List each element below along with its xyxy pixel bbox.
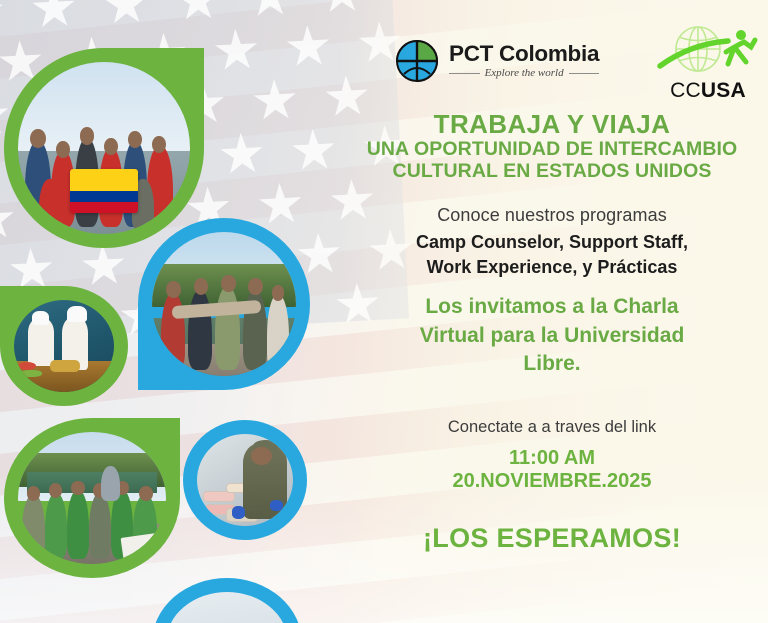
pct-colombia-logo: PCT Colombia Explore the world [394, 38, 599, 84]
event-time: 11:00 AM [336, 447, 768, 470]
invitation-block: Los invitamos a la Charla Virtual para l… [336, 293, 768, 378]
closing-callout: ¡LOS ESPERAMOS! [336, 523, 768, 554]
photo-camp-staff-group-green-shirts [4, 418, 180, 578]
photo-collage [0, 0, 330, 623]
ccusa-prefix: CC [670, 79, 701, 102]
colombian-flag [70, 169, 139, 214]
photo-partial-bottom [152, 578, 302, 623]
headline-line-3: CULTURAL EN ESTADOS UNIDOS [336, 161, 768, 183]
invitation-line-3: Libre. [336, 350, 768, 378]
event-date: 20.NOVIEMBRE.2025 [336, 470, 768, 493]
flyer-canvas: PCT Colombia Explore the world [0, 0, 768, 623]
photo-food-service-worker [183, 420, 307, 540]
ccusa-wordmark: CCUSA [656, 79, 760, 103]
headline-block: TRABAJA Y VIAJA UNA OPORTUNIDAD DE INTER… [336, 110, 768, 183]
programs-line-1: Camp Counselor, Support Staff, [336, 230, 768, 255]
ccusa-globe-runner-mark [656, 22, 760, 78]
pct-logo-name: PCT Colombia [449, 43, 599, 66]
headline-line-2: UNA OPORTUNIDAD DE INTERCAMBIO [336, 139, 768, 161]
invitation-line-2: Virtual para la Universidad [336, 322, 768, 350]
ccusa-suffix: USA [701, 79, 746, 102]
photo-group-with-colombian-flag [4, 48, 204, 248]
programs-intro: Conoce nuestros programas [336, 205, 768, 226]
programs-line-2: Work Experience, y Prácticas [336, 255, 768, 280]
logo-row: PCT Colombia Explore the world [336, 0, 768, 108]
invitation-line-1: Los invitamos a la Charla [336, 293, 768, 321]
headline-line-1: TRABAJA Y VIAJA [336, 110, 768, 139]
pct-globe-mark [394, 38, 440, 84]
pct-logo-tagline: Explore the world [485, 68, 564, 79]
connect-instruction: Conectate a a traves del link [336, 418, 768, 437]
content-column: PCT Colombia Explore the world [336, 0, 768, 623]
photo-camp-counselors-at-dock [138, 218, 310, 390]
event-datetime: 11:00 AM 20.NOVIEMBRE.2025 [336, 447, 768, 493]
programs-list: Camp Counselor, Support Staff, Work Expe… [336, 230, 768, 280]
photo-chefs-in-kitchen [0, 286, 128, 406]
pct-rule-left [449, 73, 480, 74]
pct-rule-right [569, 73, 600, 74]
ccusa-logo: CCUSA [656, 20, 760, 103]
